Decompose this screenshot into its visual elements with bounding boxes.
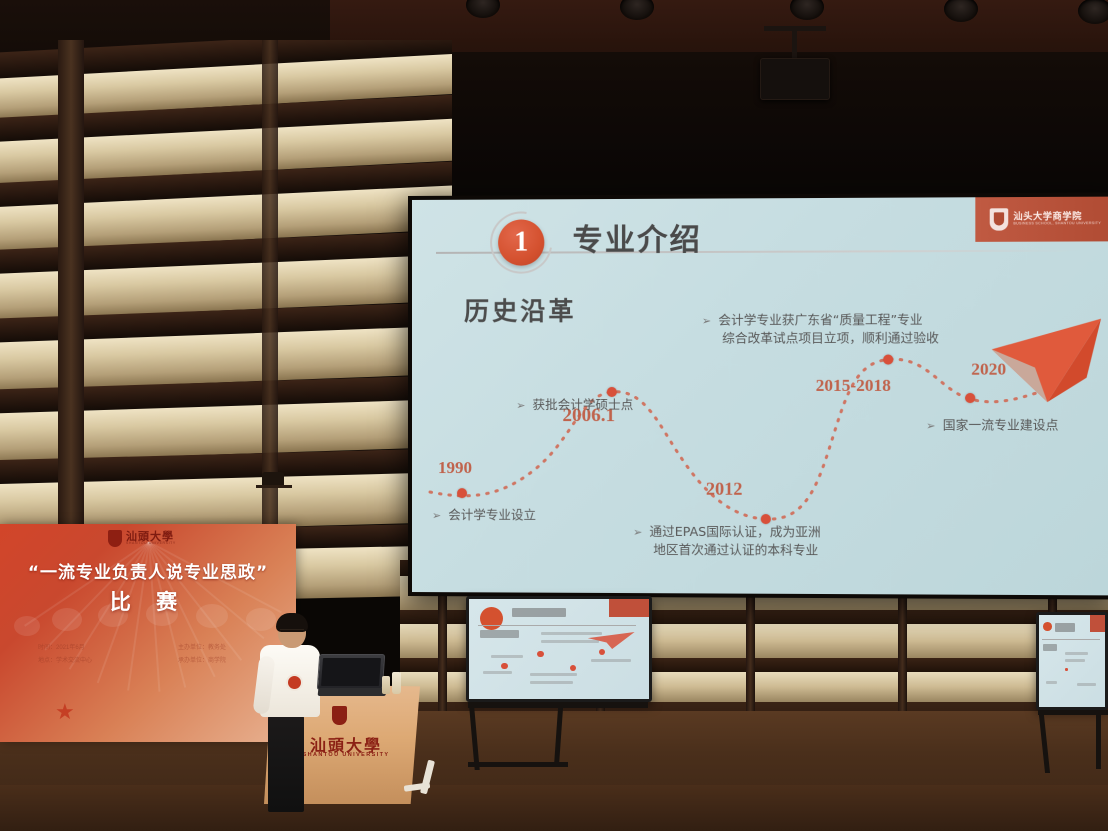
ceiling-projector	[760, 58, 830, 100]
bullet-arrow-icon: ➢	[633, 526, 642, 539]
star-icon: ★	[55, 699, 75, 725]
monitor-crossbar	[468, 762, 568, 767]
timeline-note-2012-line1: 通过EPAS国际认证，成为亚洲	[649, 524, 820, 540]
timeline-note-2015-2018: ➢会计学专业获广东省“质量工程”专业 综合改革试点项目立项，顺利通过验收	[702, 311, 939, 348]
lecture-hall-scene: 1 专业介绍 汕头大学商学院 BUSINESS SCHOOL, SHANTOU …	[0, 0, 1108, 831]
timeline-note-1990: ➢会计学专业设立	[432, 506, 536, 524]
projection-screen: 1 专业介绍 汕头大学商学院 BUSINESS SCHOOL, SHANTOU …	[408, 192, 1108, 599]
timeline-note-2012: ➢通过EPAS国际认证，成为亚洲 地区首次通过认证的本科专业	[633, 523, 821, 560]
timeline-year-1990: 1990	[438, 458, 472, 478]
water-bottle	[382, 676, 390, 694]
presenter-glasses-icon	[280, 629, 304, 634]
history-timeline: 1990 2006.1 2012 2015-2018 2020 ➢会计学专业设立…	[412, 197, 1108, 596]
wall-shelf-object	[262, 472, 284, 485]
banner-university-en: SHANTOU UNIVERSITY	[126, 542, 176, 546]
confidence-monitor-right	[1036, 612, 1108, 710]
confidence-monitor-center	[466, 596, 652, 702]
banner-university-logo: 汕頭大學 SHANTOU UNIVERSITY	[108, 530, 176, 547]
presenter-legs	[268, 714, 304, 812]
presenter	[258, 616, 320, 812]
timeline-dot-2015-2018	[883, 355, 893, 365]
timeline-note-2012-line2: 地区首次通过认证的本科专业	[653, 541, 820, 560]
banner-title: “一流专业负责人说专业思政”	[0, 558, 296, 583]
slide-canvas: 1 专业介绍 汕头大学商学院 BUSINESS SCHOOL, SHANTOU …	[412, 197, 1108, 596]
timeline-note-1990-text: 会计学专业设立	[448, 507, 536, 522]
timeline-year-2015-2018: 2015-2018	[816, 376, 891, 396]
laptop-screen	[317, 654, 386, 690]
presenter-emblem	[286, 674, 303, 691]
wall-shelf	[256, 485, 292, 488]
timeline-note-2020: ➢国家一流专业建设点	[926, 416, 1058, 434]
timeline-dot-1990	[457, 488, 467, 498]
projector-arm	[792, 30, 797, 60]
timeline-note-2006-text: 获批会计学硕士点	[532, 397, 633, 412]
event-banner: 汕頭大學 SHANTOU UNIVERSITY “一流专业负责人说专业思政” 比…	[0, 524, 296, 742]
bullet-arrow-icon: ➢	[516, 399, 525, 412]
laptop-keyboard	[318, 688, 387, 696]
timeline-note-2015-2018-line1: 会计学专业获广东省“质量工程”专业	[718, 312, 922, 328]
monitor-screen	[1039, 615, 1105, 707]
monitor-screen	[469, 599, 649, 699]
timeline-note-2020-text: 国家一流专业建设点	[943, 417, 1059, 432]
stage-floor-front	[0, 785, 1108, 831]
timeline-note-2015-2018-line2: 综合改革试点项目立项，顺利通过验收	[722, 329, 939, 348]
banner-meta-right: 主办单位：教务处 承办单位：商学院	[178, 642, 226, 667]
banner-meta-left: 时间：2021年6月 地点：学术交流中心	[38, 642, 92, 667]
bullet-arrow-icon: ➢	[926, 419, 935, 432]
banner-subtitle: 比 赛	[0, 586, 296, 616]
lectern-crest-icon	[332, 706, 347, 725]
monitor-leg	[1096, 715, 1101, 769]
bullet-arrow-icon: ➢	[432, 509, 441, 522]
bullet-arrow-icon: ➢	[702, 314, 711, 327]
ceiling-light	[1078, 0, 1108, 24]
timeline-year-2020: 2020	[971, 359, 1006, 379]
timeline-year-2012: 2012	[706, 479, 743, 500]
water-bottle	[392, 672, 401, 694]
timeline-note-2006: ➢获批会计学硕士点	[516, 396, 633, 414]
timeline-dot-2020	[965, 393, 975, 403]
crest-icon	[108, 530, 122, 547]
